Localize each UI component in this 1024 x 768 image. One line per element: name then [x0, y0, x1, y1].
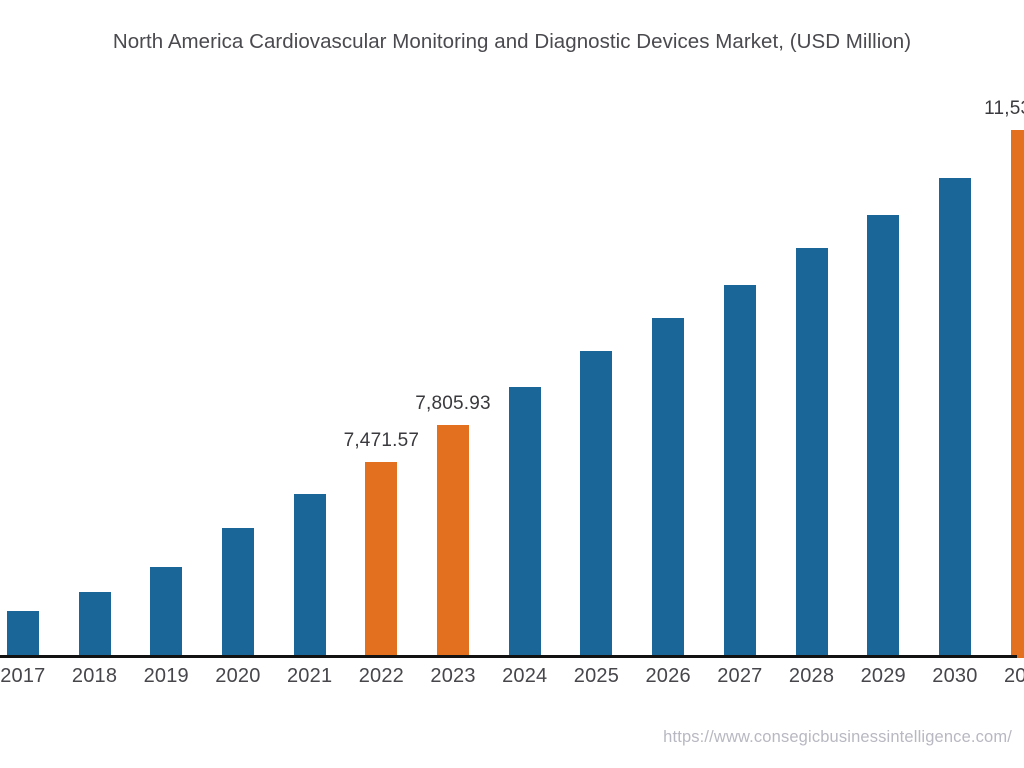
x-tick-label-2024: 2024 [489, 665, 561, 688]
bar-slot-2020[interactable] [202, 2, 274, 658]
bar-slot-2018[interactable] [59, 2, 131, 658]
bar-2029[interactable] [867, 215, 899, 658]
x-tick-label-2022: 2022 [346, 665, 418, 688]
x-tick-label-2018: 2018 [59, 665, 131, 688]
bar-slot-2019[interactable] [130, 2, 202, 658]
bar-2027[interactable] [724, 285, 756, 658]
bar-2024[interactable] [509, 387, 541, 658]
x-tick-label-2019: 2019 [130, 665, 202, 688]
x-tick-label-2029: 2029 [847, 665, 919, 688]
bar-slot-2022[interactable]: 7,471.57 [346, 2, 418, 658]
plot-area: 7,471.577,805.9311,537.84 [0, 0, 1024, 658]
bar-2023[interactable] [437, 425, 469, 658]
bar-2028[interactable] [796, 248, 828, 658]
bar-slot-2021[interactable] [274, 2, 346, 658]
x-tick-label-2031: 2031 [991, 665, 1024, 688]
bar-slot-2029[interactable] [847, 2, 919, 658]
bar-slot-2024[interactable] [489, 2, 561, 658]
bar-slot-2023[interactable]: 7,805.93 [417, 2, 489, 658]
bar-slot-2017[interactable] [0, 2, 59, 658]
x-axis-baseline [0, 655, 1017, 658]
x-tick-label-2030: 2030 [919, 665, 991, 688]
x-tick-label-2020: 2020 [202, 665, 274, 688]
bar-2025[interactable] [580, 351, 612, 658]
x-axis-tick-labels: 2017201820192020202120222023202420252026… [0, 665, 1024, 697]
bar-slot-2027[interactable] [704, 2, 776, 658]
chart-container: North America Cardiovascular Monitoring … [0, 0, 1024, 768]
x-tick-label-2028: 2028 [776, 665, 848, 688]
bar-slot-2030[interactable] [919, 2, 991, 658]
bar-2021[interactable] [294, 494, 326, 658]
x-tick-label-2017: 2017 [0, 665, 59, 688]
bar-2018[interactable] [79, 592, 111, 658]
bar-2026[interactable] [652, 318, 684, 658]
bar-slot-2031[interactable]: 11,537.84 [991, 2, 1024, 658]
bar-2022[interactable] [365, 462, 397, 658]
bar-slot-2028[interactable] [776, 2, 848, 658]
x-tick-label-2026: 2026 [632, 665, 704, 688]
bar-slot-2026[interactable] [632, 2, 704, 658]
x-tick-label-2027: 2027 [704, 665, 776, 688]
bar-value-label-2031: 11,537.84 [984, 98, 1024, 120]
bar-value-label-2022: 7,471.57 [344, 430, 420, 452]
bar-2019[interactable] [150, 567, 182, 658]
bar-value-label-2023: 7,805.93 [415, 393, 491, 415]
bar-slot-2025[interactable] [561, 2, 633, 658]
bar-2020[interactable] [222, 528, 254, 658]
x-tick-label-2021: 2021 [274, 665, 346, 688]
x-tick-label-2023: 2023 [417, 665, 489, 688]
source-url-text: https://www.consegicbusinessintelligence… [663, 728, 1012, 747]
bar-2030[interactable] [939, 178, 971, 658]
bar-2017[interactable] [7, 611, 39, 658]
bar-2031[interactable] [1011, 130, 1024, 658]
x-tick-label-2025: 2025 [561, 665, 633, 688]
